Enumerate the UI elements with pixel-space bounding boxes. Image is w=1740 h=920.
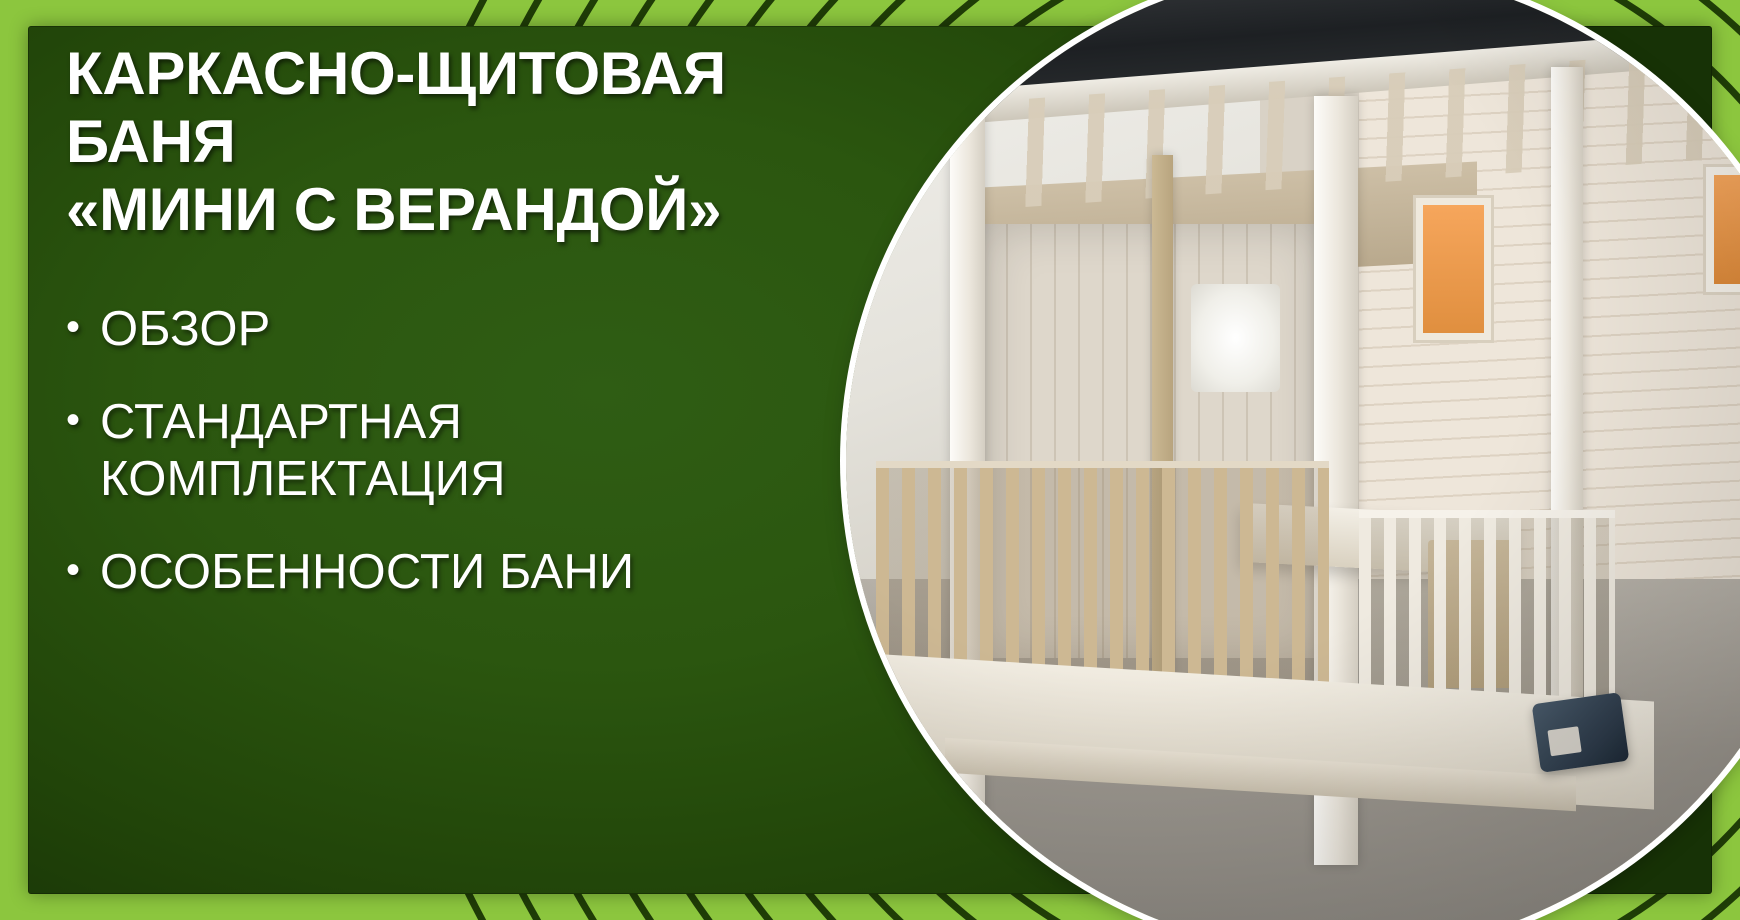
- bullet-icon: •: [66, 544, 100, 597]
- list-item: • ОБЗОР: [66, 301, 826, 358]
- text-column: КАРКАСНО-ЩИТОВАЯ БАНЯ «МИНИ С ВЕРАНДОЙ» …: [66, 40, 826, 601]
- slide-canvas: КАРКАСНО-ЩИТОВАЯ БАНЯ «МИНИ С ВЕРАНДОЙ» …: [0, 0, 1740, 920]
- list-item: • СТАНДАРТНАЯ КОМПЛЕКТАЦИЯ: [66, 394, 826, 508]
- bullet-icon: •: [66, 301, 100, 354]
- page-title: КАРКАСНО-ЩИТОВАЯ БАНЯ «МИНИ С ВЕРАНДОЙ»: [66, 40, 826, 243]
- product-photo-circle: [846, 0, 1740, 920]
- list-item-label: ОБЗОР: [100, 301, 826, 358]
- bathhouse-photo: [846, 0, 1740, 920]
- bullet-icon: •: [66, 394, 100, 447]
- topic-list: • ОБЗОР • СТАНДАРТНАЯ КОМПЛЕКТАЦИЯ • ОСО…: [66, 301, 826, 600]
- list-item-label: СТАНДАРТНАЯ КОМПЛЕКТАЦИЯ: [100, 394, 826, 508]
- photo-vignette: [846, 0, 1740, 920]
- list-item: • ОСОБЕННОСТИ БАНИ: [66, 544, 826, 601]
- list-item-label: ОСОБЕННОСТИ БАНИ: [100, 544, 826, 601]
